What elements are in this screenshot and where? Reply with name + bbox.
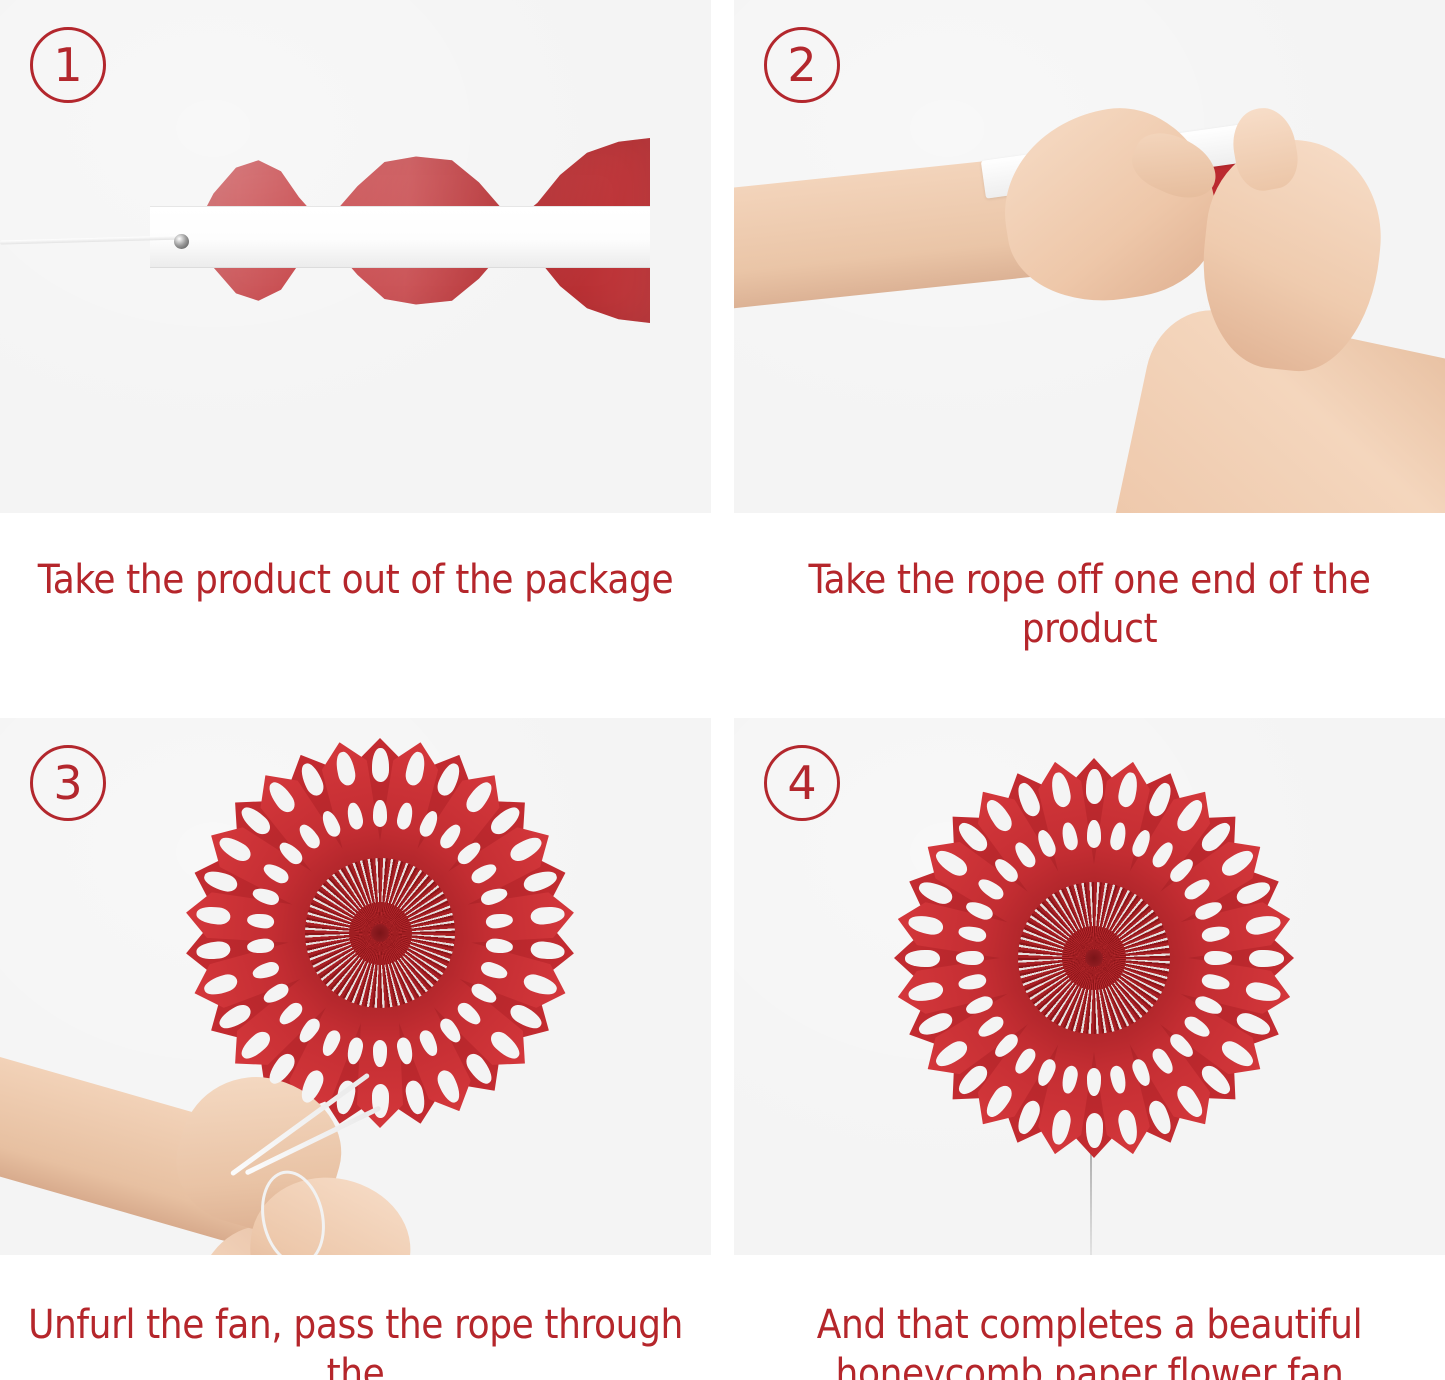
caption-line: Take the product out of the package <box>18 556 693 605</box>
fan-cutout <box>956 951 984 965</box>
fan-cutout <box>1087 820 1101 848</box>
fan-cutout <box>1087 1068 1101 1096</box>
metal-eyelet-icon <box>174 234 189 249</box>
unfurled-paper-fan <box>185 738 575 1128</box>
step-caption-4: And that completes a beautiful honeycomb… <box>734 1301 1445 1380</box>
step-photo-4: 4 <box>734 718 1445 1255</box>
caption-line: Unfurl the fan, pass the rope through th… <box>18 1301 693 1380</box>
step-number-badge-3: 3 <box>30 745 106 821</box>
step-number-badge-4: 4 <box>764 745 840 821</box>
step-photo-3: 3 <box>0 718 711 1255</box>
caption-line: Take the rope off one end of the product <box>752 556 1427 654</box>
step-card-3: 3 Unfurl the fan, pass the rope through … <box>0 718 711 1380</box>
hanging-thread <box>1090 1138 1092 1255</box>
fan-cutout <box>373 1040 387 1067</box>
step-caption-3: Unfurl the fan, pass the rope through th… <box>0 1301 711 1380</box>
step-card-1: 1 Take the product out of the package <box>0 0 711 690</box>
fan-cutout <box>1086 769 1103 804</box>
step-card-4: 4 And that completes a beautiful honeyco… <box>734 718 1445 1380</box>
step-caption-1: Take the product out of the package <box>0 556 711 605</box>
caption-line: And that completes a beautiful <box>752 1301 1427 1350</box>
fan-cutout <box>1086 1113 1103 1148</box>
step-card-2: 2 Take the rope off one end of the produ… <box>734 0 1445 690</box>
fan-cutout <box>1204 951 1232 965</box>
step-number-badge-2: 2 <box>764 27 840 103</box>
instruction-sheet: 1 Take the product out of the package 2 <box>0 0 1445 1380</box>
fan-hub <box>371 924 389 942</box>
white-label-strip <box>150 206 650 268</box>
step-number-badge-1: 1 <box>30 27 106 103</box>
fan-hub <box>1085 949 1103 967</box>
caption-line: honeycomb paper flower fan <box>752 1350 1427 1380</box>
step-caption-2: Take the rope off one end of the product <box>734 556 1445 654</box>
left-hand <box>990 95 1227 316</box>
step-photo-1: 1 <box>0 0 711 513</box>
fan-cutout <box>373 800 387 827</box>
finished-paper-flower-fan <box>894 758 1294 1158</box>
step-photo-2: 2 <box>734 0 1445 513</box>
fan-cutout <box>372 748 389 782</box>
flat-folded-fan-illustration <box>150 138 650 323</box>
fan-cutout <box>905 950 940 967</box>
fan-cutout <box>1249 950 1284 967</box>
